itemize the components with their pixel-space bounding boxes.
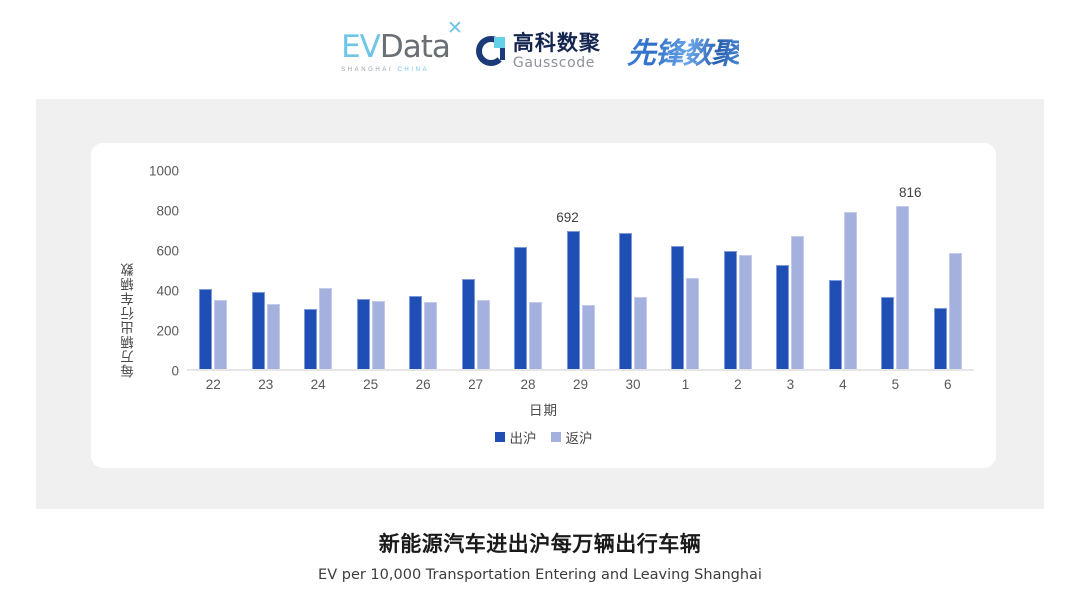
bar-back[interactable] [949, 253, 962, 369]
bar-chart: 每万辆出行车辆数 02004006008001000 692816 222324… [91, 143, 996, 468]
bar-group: 816 [869, 171, 921, 369]
x-axis-tick-label: 27 [449, 377, 501, 392]
bar-back[interactable] [424, 302, 437, 369]
y-axis-tick-label: 1000 [149, 164, 179, 179]
bar-group [449, 171, 501, 369]
gausscode-cn-text: 高科数聚 [513, 33, 601, 54]
bar-group: 692 [554, 171, 606, 369]
xianfeng-logo: 先锋数聚 [627, 30, 739, 72]
x-axis-tick-label: 28 [502, 377, 554, 392]
bar-group [764, 171, 816, 369]
bar-groups: 692816 [187, 171, 974, 369]
x-axis-tick-label: 1 [659, 377, 711, 392]
bar-out[interactable] [724, 251, 737, 369]
bar-out[interactable] [357, 299, 370, 369]
bar-out[interactable] [619, 233, 632, 369]
x-axis-tick-label: 29 [554, 377, 606, 392]
x-mark-icon: ✕ [447, 17, 463, 40]
x-axis-tick-label: 26 [397, 377, 449, 392]
bar-back[interactable] [634, 297, 647, 369]
evdata-data-text: Data [380, 29, 450, 65]
legend-label: 返沪 [566, 427, 593, 447]
x-axis-tick-label: 3 [764, 377, 816, 392]
bar-out[interactable] [776, 265, 789, 369]
plot-area: 692816 [187, 171, 974, 371]
bar-out[interactable] [829, 280, 842, 369]
bar-back[interactable] [791, 236, 804, 369]
bar-back[interactable] [267, 304, 280, 369]
bar-value-label: 816 [899, 185, 922, 200]
bar-group [607, 171, 659, 369]
bar-group [397, 171, 449, 369]
legend-item[interactable]: 出沪 [495, 427, 537, 447]
x-axis-tick-label: 4 [817, 377, 869, 392]
bar-back[interactable] [319, 288, 332, 369]
y-axis-tick-label: 800 [156, 204, 179, 219]
bar-out[interactable] [881, 297, 894, 369]
x-axis-ticks: 222324252627282930123456 [187, 377, 974, 392]
bar-out[interactable] [409, 296, 422, 369]
bar-value-label: 692 [556, 210, 579, 225]
bar-group [239, 171, 291, 369]
slide-page: EV Data ✕ SHANGHAI CHINA 高科数聚 Gausscode … [0, 0, 1080, 608]
bar-back[interactable] [529, 302, 542, 369]
chart-card: 每万辆出行车辆数 02004006008001000 692816 222324… [91, 143, 996, 468]
bar-out[interactable] [199, 289, 212, 369]
bar-back[interactable] [844, 212, 857, 369]
bar-out[interactable] [934, 308, 947, 369]
bar-back[interactable] [372, 301, 385, 369]
legend-label: 出沪 [510, 427, 537, 447]
x-axis-tick-label: 23 [239, 377, 291, 392]
evdata-tagline-city: SHANGHAI [341, 67, 393, 73]
x-axis-tick-label: 30 [607, 377, 659, 392]
bar-group [502, 171, 554, 369]
x-axis-tick-label: 22 [187, 377, 239, 392]
x-axis-tick-label: 2 [712, 377, 764, 392]
caption-title-cn: 新能源汽车进出沪每万辆出行车辆 [0, 528, 1080, 558]
x-axis-tick-label: 6 [922, 377, 974, 392]
gausscode-g-icon [476, 36, 506, 66]
gausscode-en-text: Gausscode [513, 56, 601, 70]
x-axis-tick-label: 24 [292, 377, 344, 392]
y-axis-tick-label: 400 [156, 284, 179, 299]
legend-item[interactable]: 返沪 [551, 427, 593, 447]
bar-back[interactable] [896, 206, 909, 369]
evdata-wordmark: EV Data ✕ [341, 29, 450, 65]
bar-back[interactable] [582, 305, 595, 369]
chart-legend: 出沪返沪 [91, 427, 996, 447]
y-axis-tick-label: 200 [156, 324, 179, 339]
evdata-tagline: SHANGHAI CHINA [341, 67, 429, 73]
caption-block: 新能源汽车进出沪每万辆出行车辆 EV per 10,000 Transporta… [0, 528, 1080, 583]
bar-group [344, 171, 396, 369]
bar-group [187, 171, 239, 369]
evdata-tagline-country: CHINA [398, 67, 430, 73]
logo-strip: EV Data ✕ SHANGHAI CHINA 高科数聚 Gausscode … [0, 22, 1080, 80]
bar-group [922, 171, 974, 369]
bar-group [659, 171, 711, 369]
legend-swatch-icon [551, 432, 561, 442]
bar-group [817, 171, 869, 369]
gausscode-square-shape [494, 37, 505, 48]
bar-back[interactable] [477, 300, 490, 369]
evdata-logo: EV Data ✕ SHANGHAI CHINA [341, 29, 450, 73]
bar-back[interactable] [739, 255, 752, 369]
gausscode-wordmark: 高科数聚 Gausscode [513, 33, 601, 70]
y-axis-tick-label: 0 [171, 364, 179, 379]
bar-back[interactable] [686, 278, 699, 369]
x-axis-tick-label: 25 [344, 377, 396, 392]
gausscode-logo: 高科数聚 Gausscode [476, 33, 601, 70]
bar-out[interactable] [514, 247, 527, 369]
bar-out[interactable] [671, 246, 684, 369]
bar-out[interactable] [462, 279, 475, 369]
gausscode-bar-shape [500, 48, 505, 60]
bar-group [712, 171, 764, 369]
x-axis-baseline [187, 369, 974, 371]
y-axis-tick-label: 600 [156, 244, 179, 259]
legend-swatch-icon [495, 432, 505, 442]
bar-group [292, 171, 344, 369]
caption-title-en: EV per 10,000 Transportation Entering an… [0, 567, 1080, 583]
evdata-ev-text: EV [341, 29, 380, 65]
y-axis-ticks: 02004006008001000 [135, 171, 179, 371]
x-axis-title: 日期 [91, 399, 996, 419]
bar-out[interactable] [252, 292, 265, 369]
bar-out[interactable] [304, 309, 317, 369]
x-axis-tick-label: 5 [869, 377, 921, 392]
bar-back[interactable] [214, 300, 227, 369]
bar-out[interactable] [567, 231, 580, 369]
chart-panel: 每万辆出行车辆数 02004006008001000 692816 222324… [36, 99, 1044, 509]
